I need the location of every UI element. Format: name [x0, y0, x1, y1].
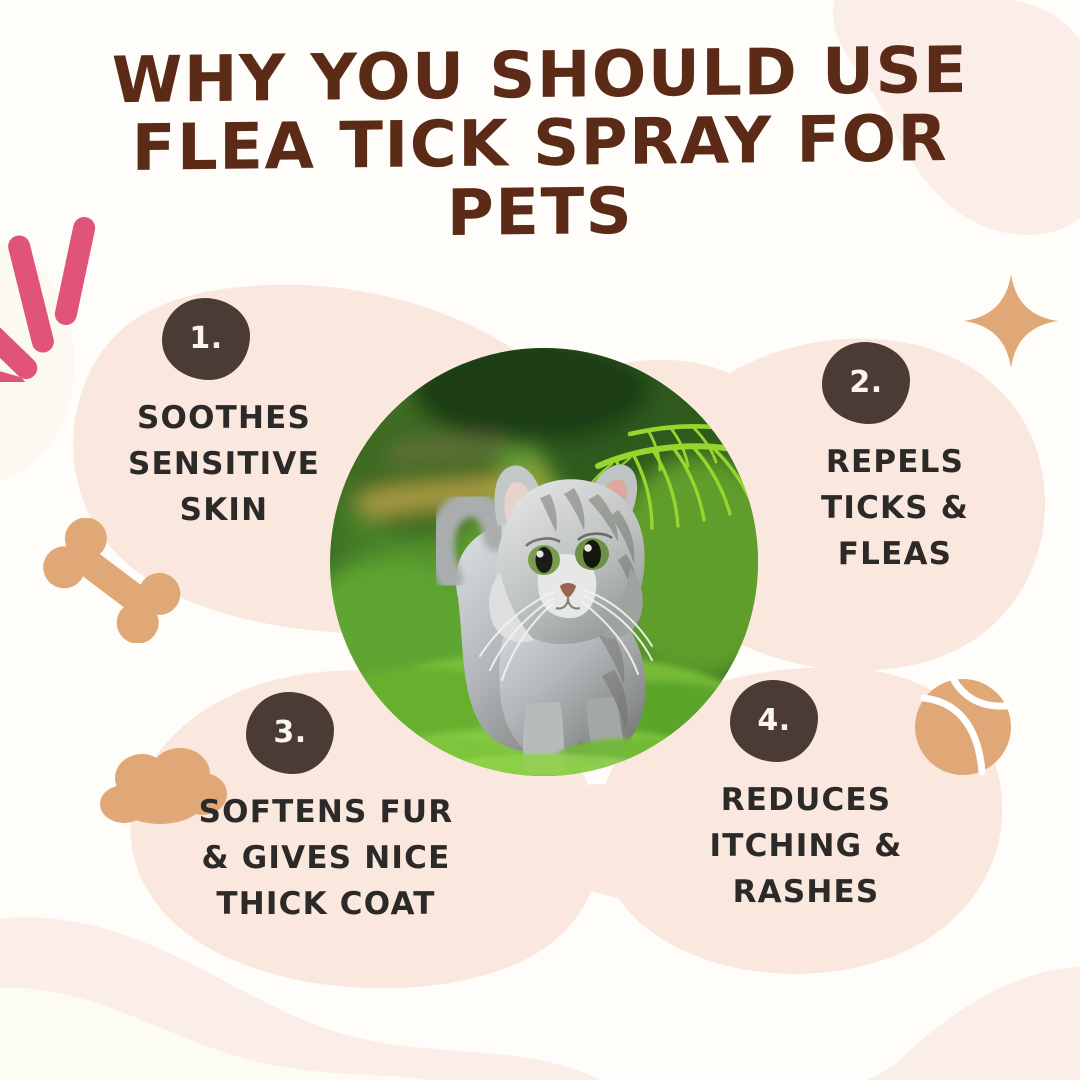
- benefit-3-text: SOFTENS FUR & GIVES NICE THICK COAT: [176, 790, 476, 928]
- page-title: WHY YOU SHOULD USE FLEA TICK SPRAY FOR P…: [0, 35, 1080, 254]
- benefit-item-1: 1. SOOTHES SENSITIVE SKIN: [96, 298, 352, 534]
- benefit-item-3: 3. SOFTENS FUR & GIVES NICE THICK COAT: [176, 692, 476, 928]
- benefit-4-text: REDUCES ITCHING & RASHES: [668, 778, 944, 916]
- badge-1: 1.: [162, 298, 250, 380]
- badge-1-number: 1.: [189, 321, 222, 356]
- benefit-1-text: SOOTHES SENSITIVE SKIN: [96, 396, 352, 534]
- badge-2: 2.: [822, 342, 910, 424]
- badge-2-number: 2.: [849, 365, 882, 400]
- benefit-2-text: REPELS TICKS & FLEAS: [778, 440, 1012, 578]
- benefit-item-2: 2. REPELS TICKS & FLEAS: [778, 342, 1012, 578]
- badge-3-number: 3.: [273, 715, 306, 750]
- badge-4: 4.: [730, 680, 818, 762]
- badge-4-number: 4.: [757, 703, 790, 738]
- infographic-poster: WHY YOU SHOULD USE FLEA TICK SPRAY FOR P…: [0, 0, 1080, 1080]
- badge-3: 3.: [246, 692, 334, 774]
- benefit-item-4: 4. REDUCES ITCHING & RASHES: [668, 680, 944, 916]
